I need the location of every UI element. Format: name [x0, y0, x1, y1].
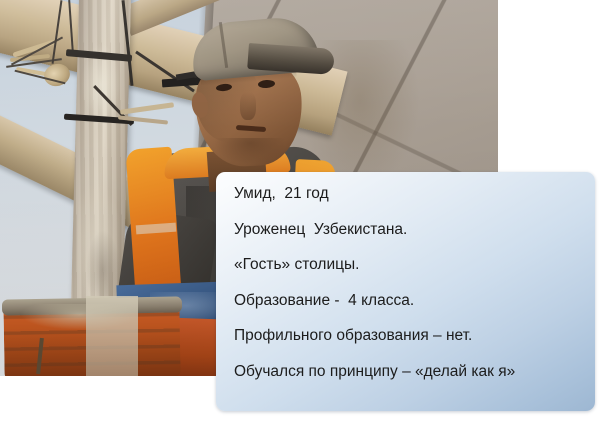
chin-shadow: [214, 138, 286, 164]
caption-line-1: Умид, 21 год: [234, 186, 579, 202]
caption-line-6: Обучался по принципу – «делай как я»: [234, 364, 579, 380]
slide-canvas: Умид, 21 год Уроженец Узбекистана. «Гост…: [0, 0, 604, 421]
worker-nose: [240, 92, 256, 120]
caption-line-3: «Гость» столицы.: [234, 257, 579, 273]
caption-line-5: Профильного образования – нет.: [234, 328, 579, 344]
caption-line-2: Уроженец Узбекистана.: [234, 222, 579, 238]
caption-textbox: Умид, 21 год Уроженец Узбекистана. «Гост…: [216, 172, 595, 411]
cement-dust: [86, 296, 138, 376]
caption-line-4: Образование - 4 класса.: [234, 293, 579, 309]
